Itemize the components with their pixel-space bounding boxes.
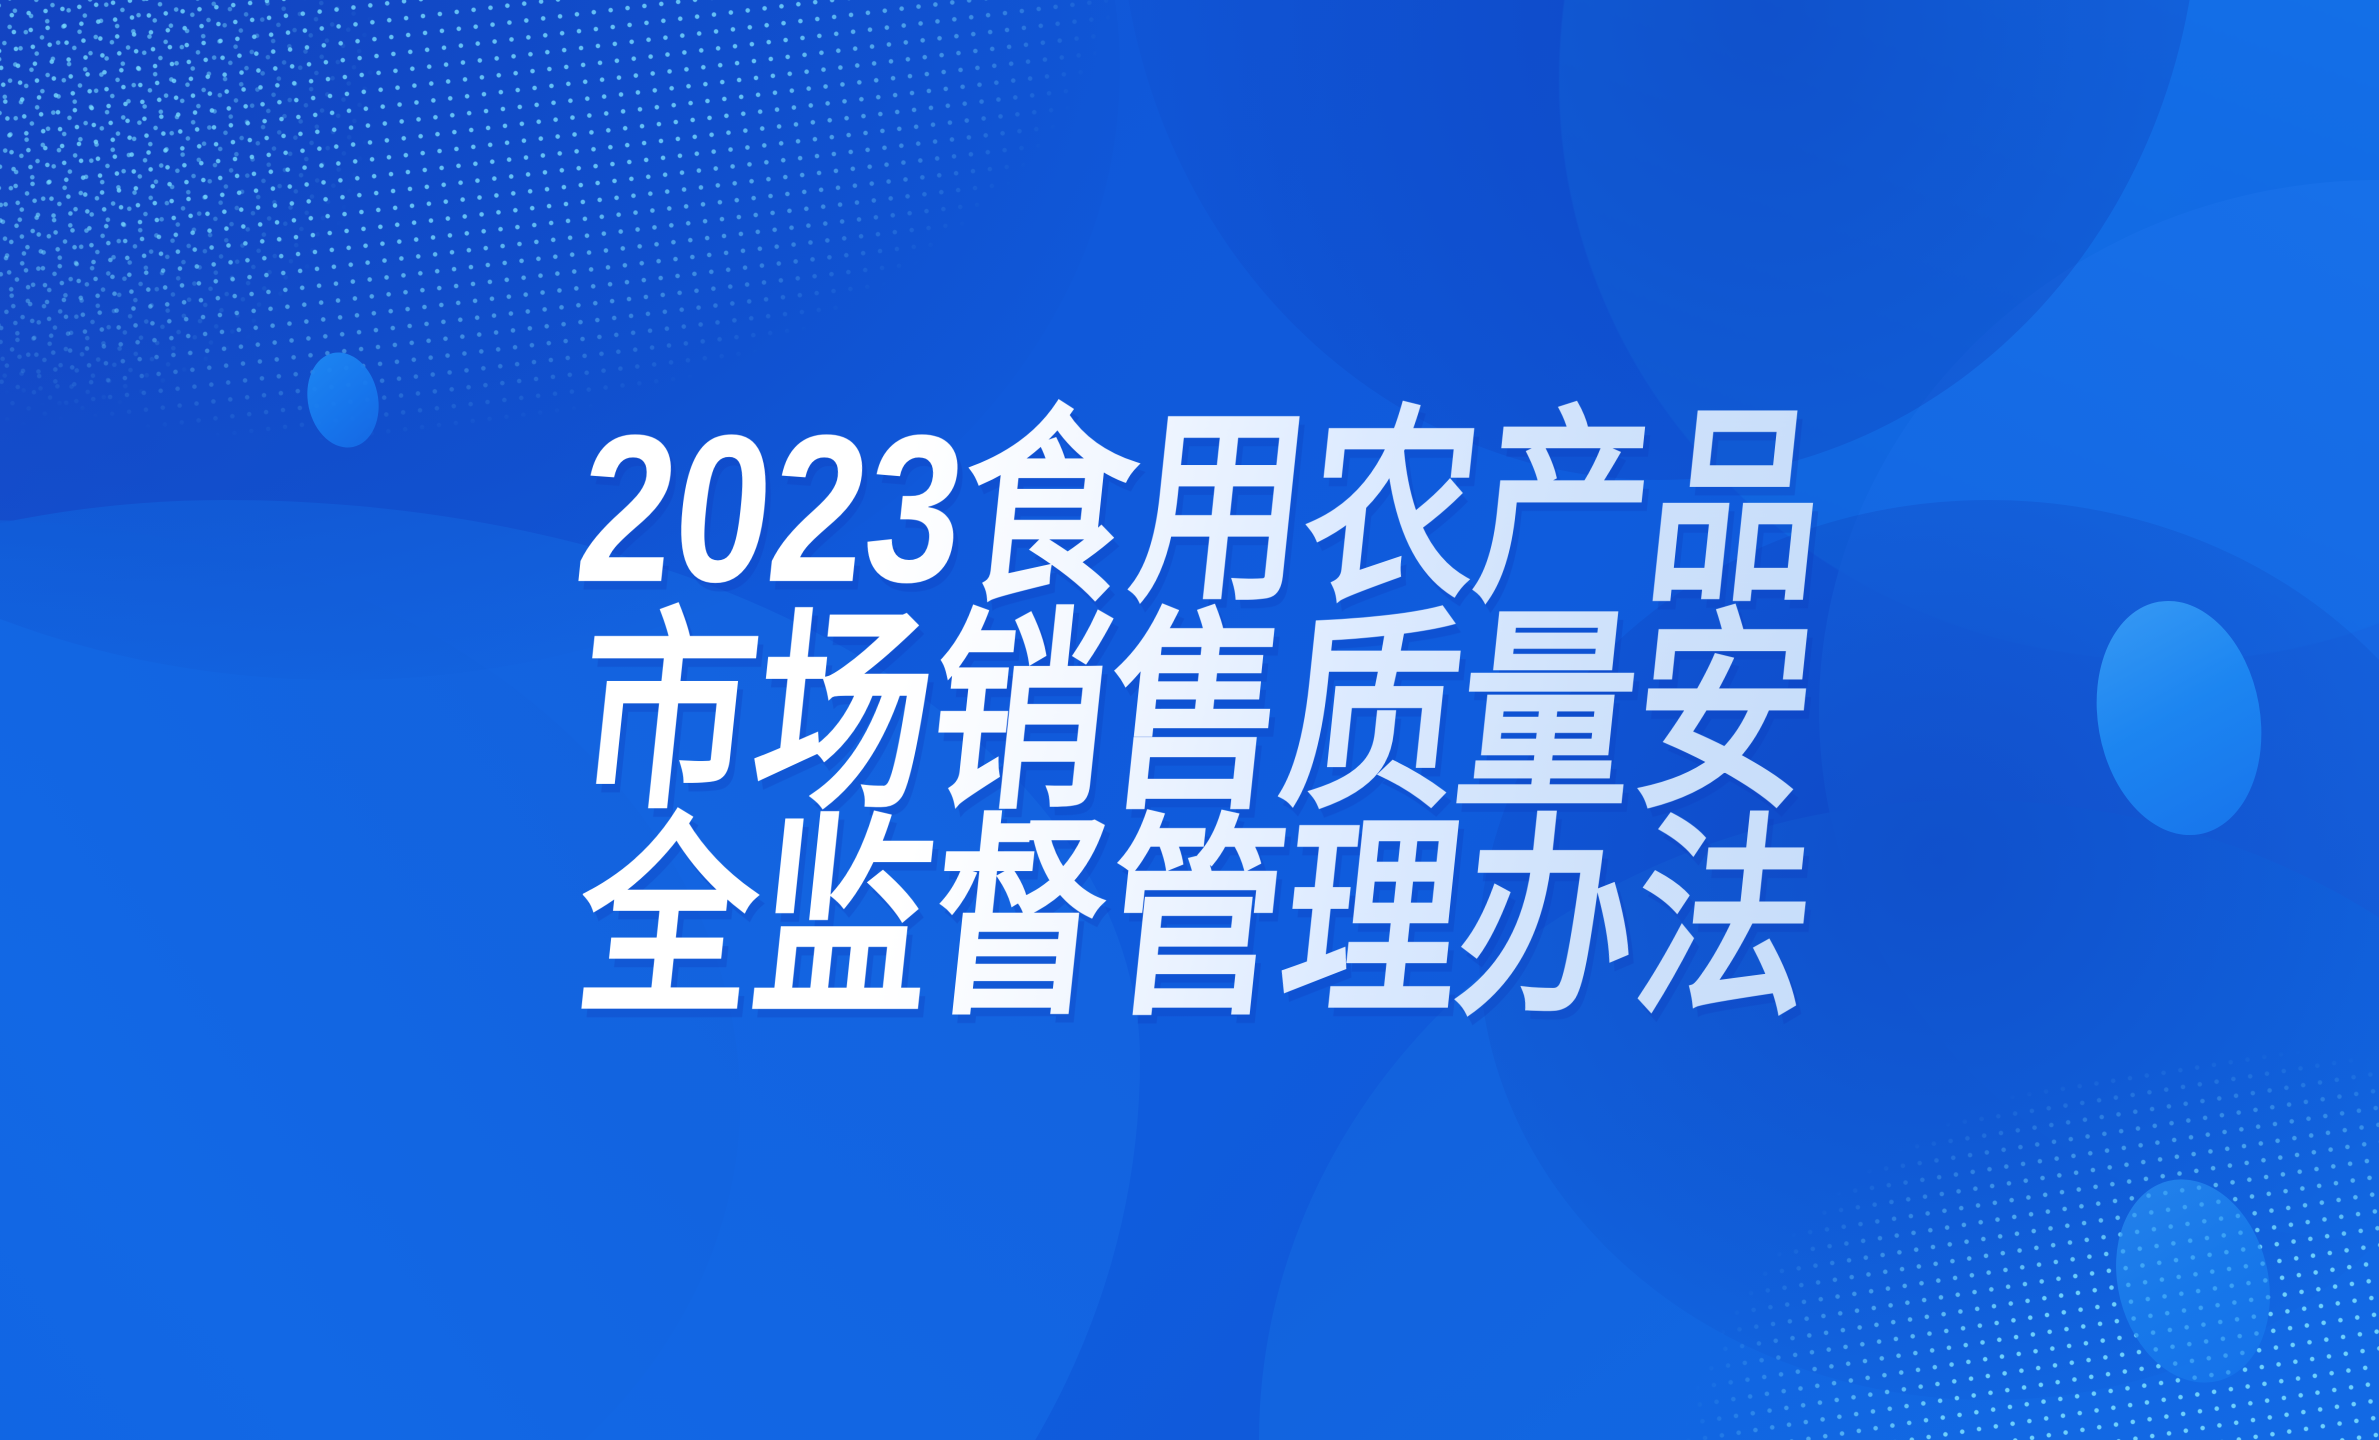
title-line-3: 全监督管理办法 — [567, 801, 1824, 1040]
title-line-2: 市场销售质量安 — [567, 595, 1824, 834]
poster-canvas: 2023食用农产品 市场销售质量安 全监督管理办法 — [0, 0, 2379, 1440]
poster-title-block: 2023食用农产品 市场销售质量安 全监督管理办法 — [0, 0, 2379, 1440]
title-line-1: 2023食用农产品 — [567, 389, 1835, 628]
